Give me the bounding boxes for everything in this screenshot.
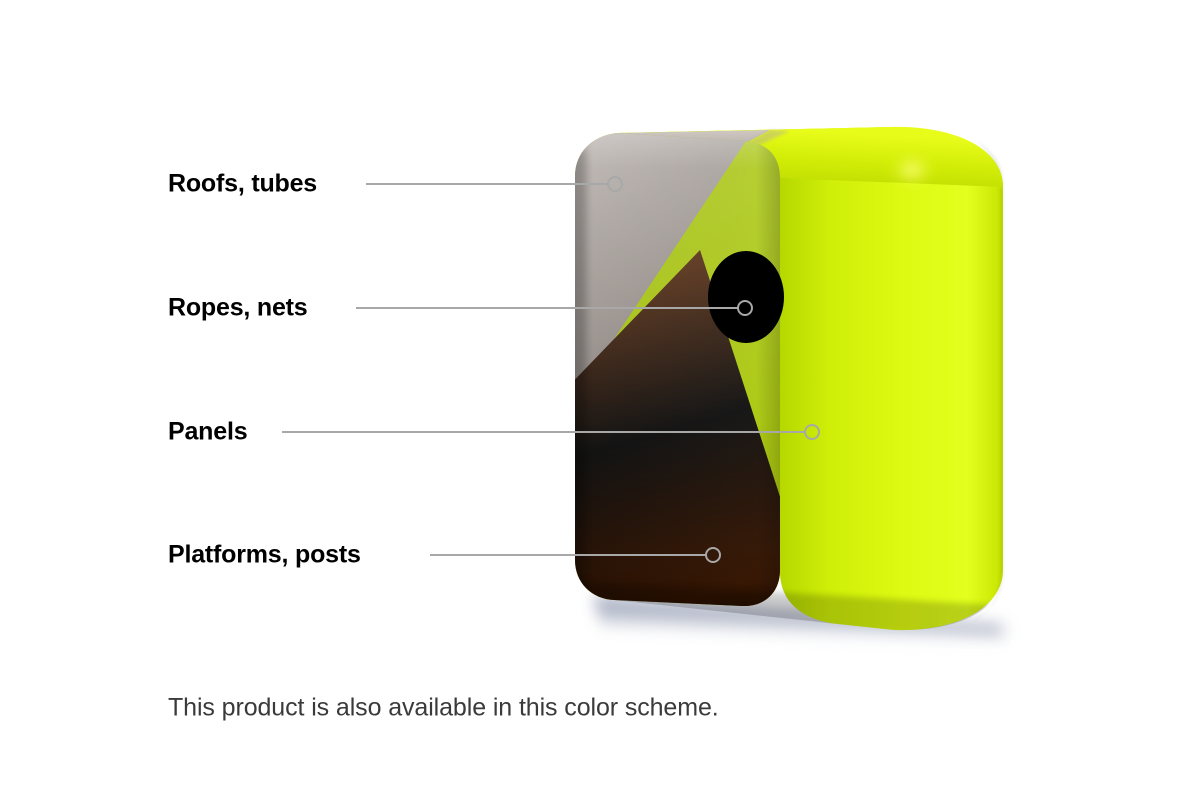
diagram-canvas: Roofs, tubes Ropes, nets Panels Platform…	[0, 0, 1200, 800]
specular-highlight	[890, 154, 934, 186]
product-swatch-illustration	[0, 0, 1200, 800]
caption-text: This product is also available in this c…	[168, 694, 719, 723]
callout-label-platforms-posts: Platforms, posts	[168, 543, 361, 568]
callout-label-ropes-nets: Ropes, nets	[168, 296, 308, 321]
right-side-face	[780, 128, 1003, 630]
callout-label-roofs-tubes: Roofs, tubes	[168, 172, 317, 197]
callout-label-panels: Panels	[168, 420, 247, 445]
black-dot	[708, 251, 784, 343]
